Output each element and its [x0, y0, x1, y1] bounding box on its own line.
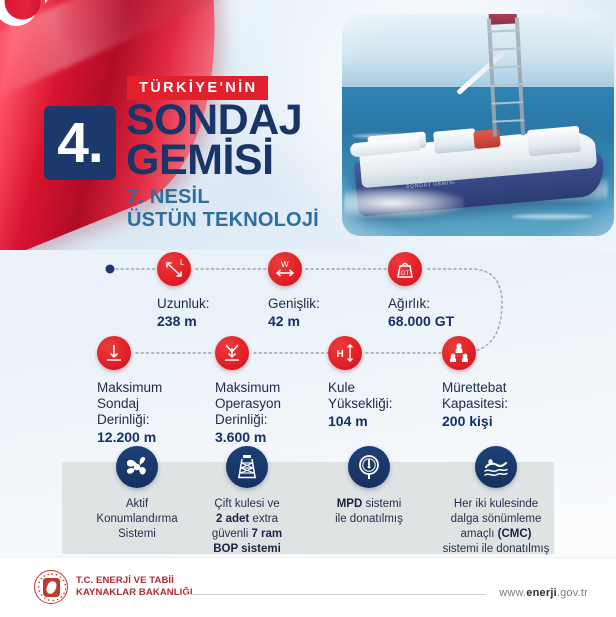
- website-prefix: www.: [499, 587, 526, 599]
- feature-cmc-system: Her iki kulesindedalga sönümlemeamaçlı (…: [430, 446, 562, 557]
- specifications-section: L Uzunluk: 238 m W Genişlik: 42 m: [0, 248, 616, 444]
- badge-number: 4.: [44, 106, 116, 180]
- svg-text:H: H: [337, 349, 344, 360]
- operation-depth-icon: [215, 336, 249, 370]
- spec-label: MürettebatKapasitesi:: [442, 380, 572, 412]
- feature-mpd-system: MPD sistemiile donatılmış: [310, 446, 428, 527]
- subtitle-line-2: ÜSTÜN TEKNOLOJİ: [127, 209, 319, 231]
- width-icon: W: [268, 252, 302, 286]
- spec-crew-capacity: MürettebatKapasitesi: 200 kişi: [442, 336, 572, 430]
- spec-label: MaksimumSondajDerinliği:: [97, 380, 227, 428]
- spec-drill-depth: MaksimumSondajDerinliği: 12.200 m: [97, 336, 227, 446]
- drill-depth-icon: [97, 336, 131, 370]
- deck-block: [527, 126, 581, 156]
- weight-icon: GT: [388, 252, 422, 286]
- spec-value: 42 m: [268, 313, 398, 330]
- wave-streak: [512, 214, 592, 219]
- svg-text:L: L: [180, 258, 185, 267]
- spec-value: 68.000 GT: [388, 313, 518, 330]
- propeller-icon: [116, 446, 158, 488]
- spec-width: W Genişlik: 42 m: [268, 252, 398, 330]
- hero-section: SONDAJ GEMISI 4. TÜRKİYE'NİN SONDAJ GEMİ…: [0, 0, 616, 250]
- footer: T.C. ENERJİ VE TABİİ KAYNAKLAR BAKANLIĞI…: [0, 557, 616, 617]
- feature-text: Çift kulesi ve2 adet extragüvenli 7 ramB…: [188, 497, 306, 557]
- pressure-gauge-icon: [348, 446, 390, 488]
- subtitle-line-1: 7. NESİL: [127, 186, 210, 208]
- website-link[interactable]: www.enerji.gov.tr: [499, 587, 588, 599]
- drillship-photo: SONDAJ GEMISI: [342, 14, 614, 236]
- tower-height-icon: H: [328, 336, 362, 370]
- infographic-poster: SONDAJ GEMISI 4. TÜRKİYE'NİN SONDAJ GEMİ…: [0, 0, 616, 617]
- spec-value: 104 m: [328, 413, 458, 430]
- derrick-crown: [488, 14, 517, 25]
- ministry-branding: T.C. ENERJİ VE TABİİ KAYNAKLAR BAKANLIĞI: [34, 570, 193, 604]
- feature-text: AktifKonumlandırmaSistemi: [78, 497, 196, 542]
- page-subtitle: 7. NESİL ÜSTÜN TEKNOLOJİ: [127, 186, 319, 232]
- spec-value: 200 kişi: [442, 413, 572, 430]
- feature-text: Her iki kulesindedalga sönümlemeamaçlı (…: [430, 497, 562, 557]
- page-title: SONDAJ GEMİSİ: [126, 100, 302, 180]
- spec-operation-depth: MaksimumOperasyonDerinliği: 3.600 m: [215, 336, 345, 446]
- ministry-name-line-1: T.C. ENERJİ VE TABİİ: [76, 575, 193, 587]
- features-panel: AktifKonumlandırmaSistemi Çift: [62, 462, 554, 554]
- spec-tower-height: H KuleYüksekliği: 104 m: [328, 336, 458, 430]
- feature-bop-system: Çift kulesi ve2 adet extragüvenli 7 ramB…: [188, 446, 306, 557]
- ministry-name-line-2: KAYNAKLAR BAKANLIĞI: [76, 587, 193, 599]
- spec-value: 12.200 m: [97, 429, 227, 446]
- derrick-tower: [485, 17, 527, 137]
- website-suffix: .gov.tr: [557, 587, 588, 599]
- spec-label: Genişlik:: [268, 296, 398, 312]
- derrick-tower-icon: [226, 446, 268, 488]
- path-start-dot: [106, 265, 115, 274]
- title-line-2: GEMİSİ: [126, 140, 302, 180]
- spec-label: MaksimumOperasyonDerinliği:: [215, 380, 345, 428]
- length-icon: L: [157, 252, 191, 286]
- feature-dynamic-positioning: AktifKonumlandırmaSistemi: [78, 446, 196, 542]
- feature-text: MPD sistemiile donatılmış: [310, 497, 428, 527]
- bow-wash: [344, 188, 464, 218]
- svg-text:W: W: [281, 260, 289, 269]
- spec-label: Ağırlık:: [388, 296, 518, 312]
- spec-weight: GT Ağırlık: 68.000 GT: [388, 252, 518, 330]
- deck-block: [433, 128, 477, 154]
- footer-divider: [186, 594, 486, 595]
- emblem-shield: [43, 578, 60, 597]
- svg-text:GT: GT: [401, 270, 410, 277]
- wave-icon: [475, 446, 517, 488]
- spec-label: KuleYüksekliği:: [328, 380, 458, 412]
- ministry-emblem-icon: [34, 570, 68, 604]
- ministry-name: T.C. ENERJİ VE TABİİ KAYNAKLAR BAKANLIĞI: [76, 575, 193, 599]
- spec-value: 3.600 m: [215, 429, 345, 446]
- crew-capacity-icon: [442, 336, 476, 370]
- website-brand: enerji: [526, 587, 557, 599]
